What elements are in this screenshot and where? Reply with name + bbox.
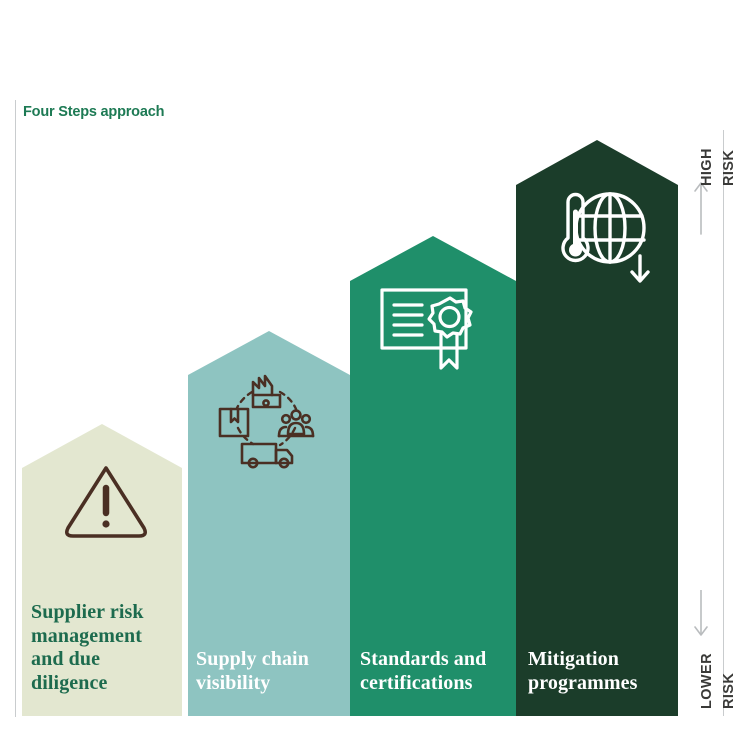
bar-label-step-3: Standards and certifications bbox=[360, 648, 486, 695]
arrow-up-icon bbox=[690, 180, 712, 241]
bar-label-line: Supply chain bbox=[196, 648, 309, 672]
bar-label-line: Standards and bbox=[360, 648, 486, 672]
bar-label-line: Supplier risk bbox=[31, 601, 144, 625]
arrow-down-icon bbox=[690, 590, 712, 645]
bar-label-step-2: Supply chain visibility bbox=[196, 648, 309, 695]
bar-label-line: management bbox=[31, 625, 144, 649]
supply-chain-cycle-icon bbox=[212, 362, 320, 475]
bar-label-step-4: Mitigation programmes bbox=[528, 648, 638, 695]
bar-label-step-1: Supplier risk management and due diligen… bbox=[31, 601, 144, 695]
risk-axis-high-label: HIGH bbox=[699, 148, 715, 186]
bar-label-line: diligence bbox=[31, 672, 144, 696]
risk-axis-rule bbox=[723, 130, 724, 716]
risk-axis-low-label: LOWER bbox=[699, 653, 715, 709]
certificate-icon bbox=[378, 284, 482, 379]
warning-triangle-icon bbox=[60, 458, 152, 551]
infographic-canvas: Four Steps approach bbox=[0, 0, 740, 740]
bar-label-line: and due bbox=[31, 648, 144, 672]
bar-label-line: certifications bbox=[360, 672, 486, 696]
bar-label-line: programmes bbox=[528, 672, 638, 696]
bar-label-line: visibility bbox=[196, 672, 309, 696]
risk-axis-low-label-2: RISK bbox=[721, 673, 737, 709]
bar-label-line: Mitigation bbox=[528, 648, 638, 672]
globe-thermometer-icon bbox=[544, 182, 656, 293]
risk-axis-high-label-2: RISK bbox=[721, 150, 737, 186]
